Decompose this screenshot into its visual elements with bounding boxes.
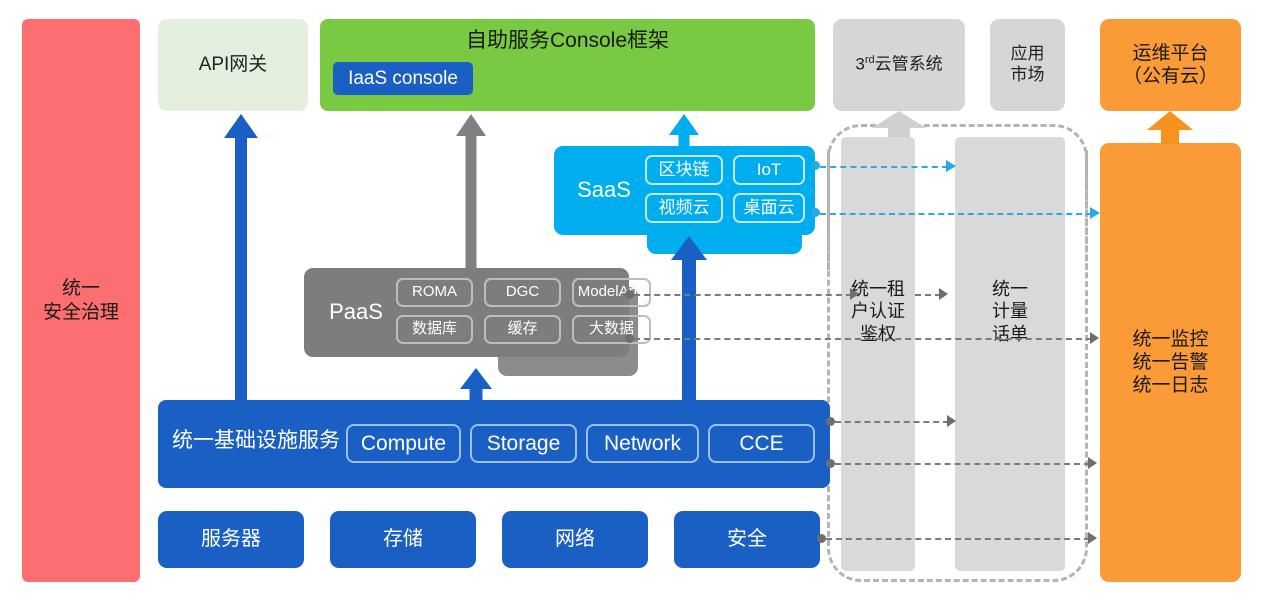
saas-layer-label: SaaS [566,177,642,204]
ops-main-line-2: 统一告警 [1132,351,1208,374]
hardware-connector-dot [817,534,826,543]
hardware-dashed-arrowhead [1088,532,1097,544]
ops-main-line-3: 统一日志 [1132,374,1208,397]
infra-connector-dot-2 [826,459,835,468]
saas-chip-video-cloud[interactable]: 视频云 [645,193,723,223]
auth-line-3: 鉴权 [841,323,915,345]
security-governance-panel: 统一 安全治理 [22,19,140,582]
security-line-2: 安全治理 [43,301,119,324]
infrastructure-label: 统一基础设施服务 [172,428,340,454]
ops-platform-line-1: 运维平台 [1123,42,1218,65]
arrow-paas-to-console [456,114,486,270]
app-market-line-1: 应用 [1011,44,1045,65]
infra-dashed-arrowhead-2 [1088,457,1097,469]
metering-line-2: 计量 [955,300,1065,322]
hardware-box-security[interactable]: 安全 [674,511,820,568]
third-party-sup: rd [865,54,875,66]
infra-chip-compute[interactable]: Compute [346,424,461,463]
saas-dashed-line-1 [820,166,948,168]
infra-chip-storage[interactable]: Storage [470,424,577,463]
infra-chip-cce[interactable]: CCE [708,424,815,463]
third-party-prefix: 3 [855,55,864,74]
zone-divider-left [827,150,830,270]
ops-monitoring-panel: 统一监控 统一告警 统一日志 [1100,143,1241,582]
paas-chip-roma[interactable]: ROMA [396,278,473,307]
metering-service-column [955,137,1065,571]
infra-connector-dot-1 [826,417,835,426]
arrow-ops-main-to-platform [1147,111,1193,144]
api-gateway-label: API网关 [199,53,268,76]
saas-dashed-line-2 [820,213,1092,215]
hardware-box-network[interactable]: 网络 [502,511,648,568]
security-line-1: 统一 [43,277,119,300]
paas-chip-modelarts[interactable]: ModelArts [572,278,651,307]
infrastructure-layer-bar: 统一基础设施服务 Compute Storage Network CCE [158,400,830,488]
arrow-zone-to-third-party [872,111,926,137]
architecture-diagram: 统一 安全治理 API网关 自助服务Console框架 IaaS console… [0,0,1265,605]
hardware-box-server[interactable]: 服务器 [158,511,304,568]
hardware-box-storage[interactable]: 存储 [330,511,476,568]
infra-dashed-line-1 [835,421,949,423]
paas-dashed-line-2 [634,338,1092,340]
auth-to-metering-dashed-line [915,294,941,296]
paas-layer-block: PaaS ROMA DGC ModelArts 数据库 缓存 大数据 [304,268,629,357]
saas-connector-dot-2 [811,208,820,217]
zone-divider-right [1085,150,1088,270]
saas-chip-desktop-cloud[interactable]: 桌面云 [733,193,805,223]
saas-chip-iot[interactable]: IoT [733,155,805,185]
saas-dashed-arrowhead-1 [946,160,956,172]
app-market-line-2: 市场 [1011,65,1045,86]
saas-layer-block: SaaS 区块链 IoT 视频云 桌面云 [554,146,815,235]
ops-main-line-1: 统一监控 [1132,328,1208,351]
infra-chip-network[interactable]: Network [586,424,699,463]
iaas-console-chip[interactable]: IaaS console [333,62,473,95]
metering-line-1: 统一 [955,278,1065,300]
paas-chip-dgc[interactable]: DGC [484,278,561,307]
hardware-dashed-line [826,538,1090,540]
paas-dashed-arrowhead-2 [1090,332,1099,344]
console-title: 自助服务Console框架 [320,28,815,54]
saas-connector-dot-1 [811,161,820,170]
arrow-infra-to-saas [671,236,707,402]
third-party-label: 3rd云管系统 [855,54,942,75]
auth-line-2: 户认证 [841,300,915,322]
app-market-card: 应用 市场 [990,19,1065,111]
auth-to-metering-arrowhead [939,288,948,300]
infra-dashed-line-2 [835,463,1090,465]
api-gateway-box: API网关 [158,19,308,111]
paas-connector-dot-1 [625,290,634,299]
arrow-infra-to-apigw [224,114,258,400]
third-party-cloud-mgmt-card: 3rd云管系统 [833,19,965,111]
console-framework-panel: 自助服务Console框架 IaaS console PaaS console … [320,19,815,111]
metering-line-3: 话单 [955,323,1065,345]
paas-layer-label: PaaS [314,299,398,326]
paas-dashed-line-1 [634,294,852,296]
paas-dashed-arrowhead-1 [850,288,859,300]
arrow-saas-to-console [669,114,699,148]
saas-dashed-arrowhead-2 [1090,207,1100,219]
paas-chip-database[interactable]: 数据库 [396,315,473,344]
paas-chip-cache[interactable]: 缓存 [484,315,561,344]
arrow-infra-to-paas [460,368,492,402]
auth-service-column [841,137,915,571]
ops-platform-line-2: （公有云） [1123,65,1218,88]
paas-connector-dot-2 [625,334,634,343]
ops-platform-card: 运维平台 （公有云） [1100,19,1241,111]
saas-chip-blockchain[interactable]: 区块链 [645,155,723,185]
metering-service-label: 统一 计量 话单 [955,278,1065,345]
third-party-rest: 云管系统 [875,55,943,74]
infra-dashed-arrowhead-1 [947,415,956,427]
